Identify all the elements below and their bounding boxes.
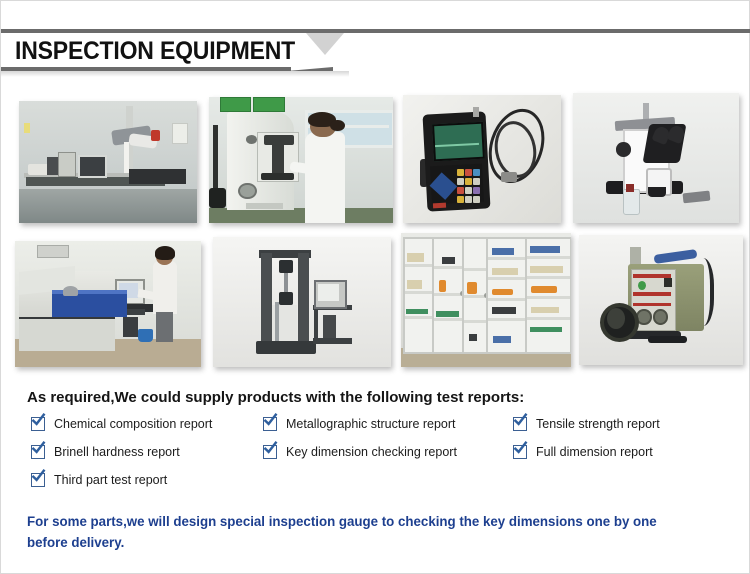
report-row-3: Third part test report	[1, 473, 750, 501]
photo-cmm-machine-image	[19, 101, 197, 223]
banner-shadow	[1, 71, 349, 77]
page-title: INSPECTION EQUIPMENT	[15, 37, 295, 66]
check-icon	[31, 417, 45, 431]
report-item-third-part-test[interactable]: Third part test report	[31, 473, 167, 487]
report-item-label: Brinell hardness report	[54, 445, 180, 459]
photo-metallographic-microscope-image	[573, 93, 739, 223]
photo-hardness-tester-image	[209, 97, 393, 223]
photo-ultrasonic-flaw-detector[interactable]: Handheld ultrasonic flaw detector with p…	[403, 95, 561, 223]
photo-instrument-cabinets[interactable]: Glass door cabinets storing measuring in…	[401, 233, 571, 367]
check-icon	[513, 445, 527, 459]
report-item-metallographic-structure[interactable]: Metallographic structure report	[263, 417, 456, 431]
report-row-1: Chemical composition report Metallograph…	[1, 417, 750, 445]
check-icon	[31, 473, 45, 487]
report-item-label: Key dimension checking report	[286, 445, 457, 459]
photo-magnetic-particle-detector-image	[579, 235, 743, 365]
report-item-label: Tensile strength report	[536, 417, 660, 431]
photo-instrument-cabinets-image	[401, 233, 571, 367]
check-icon	[263, 417, 277, 431]
photo-spectrometer-image	[15, 241, 201, 367]
check-icon	[31, 445, 45, 459]
equipment-photo-grid: Coordinate measuring machine in inspecti…	[13, 93, 739, 375]
photo-tensile-testing-machine[interactable]: Universal tensile testing machine with c…	[213, 237, 391, 367]
check-icon	[513, 417, 527, 431]
report-item-full-dimension[interactable]: Full dimension report	[513, 445, 653, 459]
report-item-label: Chemical composition report	[54, 417, 212, 431]
photo-tensile-testing-machine-image	[213, 237, 391, 367]
section-banner: INSPECTION EQUIPMENT	[1, 29, 750, 71]
report-item-label: Metallographic structure report	[286, 417, 456, 431]
inspection-gauge-note-line1: For some parts,we will design special in…	[27, 513, 583, 529]
test-reports-lead: As required,We could supply products wit…	[27, 389, 524, 406]
photo-hardness-tester[interactable]: Technician in white lab coat operating h…	[209, 97, 393, 223]
photo-metallographic-microscope[interactable]: Metallographic microscope with reagent b…	[573, 93, 739, 223]
photo-cmm-machine[interactable]: Coordinate measuring machine in inspecti…	[19, 101, 197, 223]
report-item-label: Full dimension report	[536, 445, 653, 459]
report-item-tensile-strength[interactable]: Tensile strength report	[513, 417, 660, 431]
inspection-equipment-page: INSPECTION EQUIPMENT Coordinate measurin…	[0, 0, 750, 574]
report-item-brinell-hardness[interactable]: Brinell hardness report	[31, 445, 180, 459]
photo-spectrometer[interactable]: Spectrometer for chemical composition an…	[15, 241, 201, 367]
photo-magnetic-particle-detector[interactable]: Portable magnetic particle flaw detector…	[579, 235, 743, 365]
report-item-chemical-composition[interactable]: Chemical composition report	[31, 417, 212, 431]
report-item-key-dimension-checking[interactable]: Key dimension checking report	[263, 445, 457, 459]
report-row-2: Brinell hardness report Key dimension ch…	[1, 445, 750, 473]
photo-ultrasonic-flaw-detector-image	[403, 95, 561, 223]
banner-triangle-icon	[306, 33, 344, 55]
report-item-label: Third part test report	[54, 473, 167, 487]
inspection-gauge-note: For some parts,we will design special in…	[27, 511, 692, 553]
check-icon	[263, 445, 277, 459]
